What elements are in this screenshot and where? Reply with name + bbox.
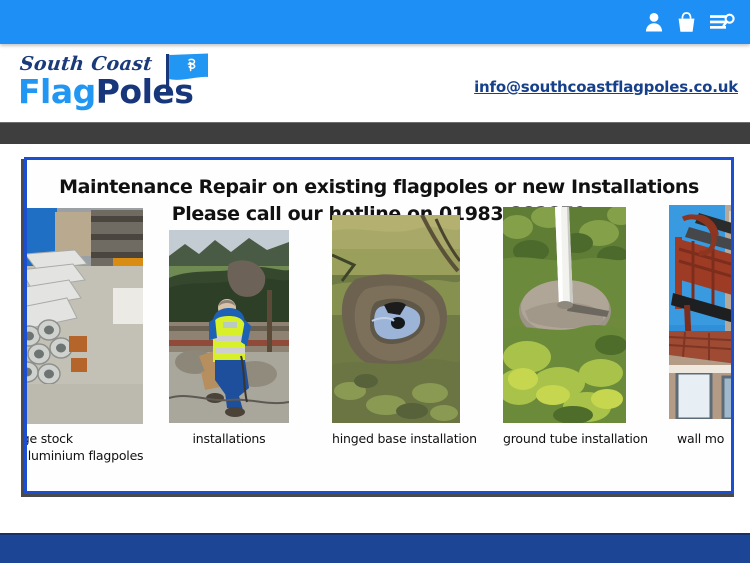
logo-word-flag: Flag: [18, 72, 96, 111]
photo-caption-line2: alluminium flagpoles: [27, 447, 143, 464]
banner-photo-card[interactable]: hinged base installation: [332, 208, 460, 423]
banner-photo-card[interactable]: installations: [169, 208, 289, 423]
account-icon[interactable]: [645, 12, 663, 32]
footer-band: [0, 533, 750, 563]
logo-band: South Coast FlagPoles info@southcoastfla…: [0, 44, 750, 122]
menu-search-icon[interactable]: [710, 12, 736, 32]
photo-caption-line1: ground tube installation: [503, 430, 626, 447]
photo-caption: ground tube installation: [503, 430, 626, 447]
banner-photo-strip: rge stock alluminium flagpoles: [27, 208, 731, 491]
basket-icon[interactable]: [677, 12, 696, 33]
photo-wall-mounted: [669, 205, 731, 419]
photo-caption: wall mo: [677, 430, 731, 447]
flag-icon: [162, 52, 212, 96]
photo-installation-worker: [169, 230, 289, 423]
promo-banner[interactable]: Maintenance Repair on existing flagpoles…: [24, 157, 734, 494]
top-icon-group: [645, 0, 736, 44]
site-logo[interactable]: South Coast FlagPoles: [18, 52, 214, 114]
banner-photo-card[interactable]: wall mo: [669, 208, 731, 419]
banner-photo-card[interactable]: rge stock alluminium flagpoles: [27, 208, 143, 424]
photo-hinged-base: [332, 215, 460, 423]
contact-email-link[interactable]: info@southcoastflagpoles.co.uk: [474, 78, 738, 96]
banner-headline-line1: Maintenance Repair on existing flagpoles…: [59, 176, 699, 198]
photo-flagpole-stock: [27, 208, 143, 424]
promo-banner-inner: Maintenance Repair on existing flagpoles…: [27, 160, 731, 491]
banner-photo-card[interactable]: ground tube installation: [503, 208, 626, 423]
main-nav-bar[interactable]: [0, 122, 750, 144]
photo-caption: installations: [169, 430, 289, 447]
photo-caption: rge stock alluminium flagpoles: [27, 430, 143, 464]
photo-caption-line1: rge stock: [27, 430, 143, 447]
photo-caption-line1: wall mo: [677, 430, 731, 447]
page-root: South Coast FlagPoles info@southcoastfla…: [0, 0, 750, 563]
top-utility-bar: [0, 0, 750, 44]
photo-caption-line1: hinged base installation: [332, 430, 460, 447]
photo-ground-tube: [503, 207, 626, 423]
photo-caption-line1: installations: [169, 430, 289, 447]
photo-caption: hinged base installation: [332, 430, 460, 447]
